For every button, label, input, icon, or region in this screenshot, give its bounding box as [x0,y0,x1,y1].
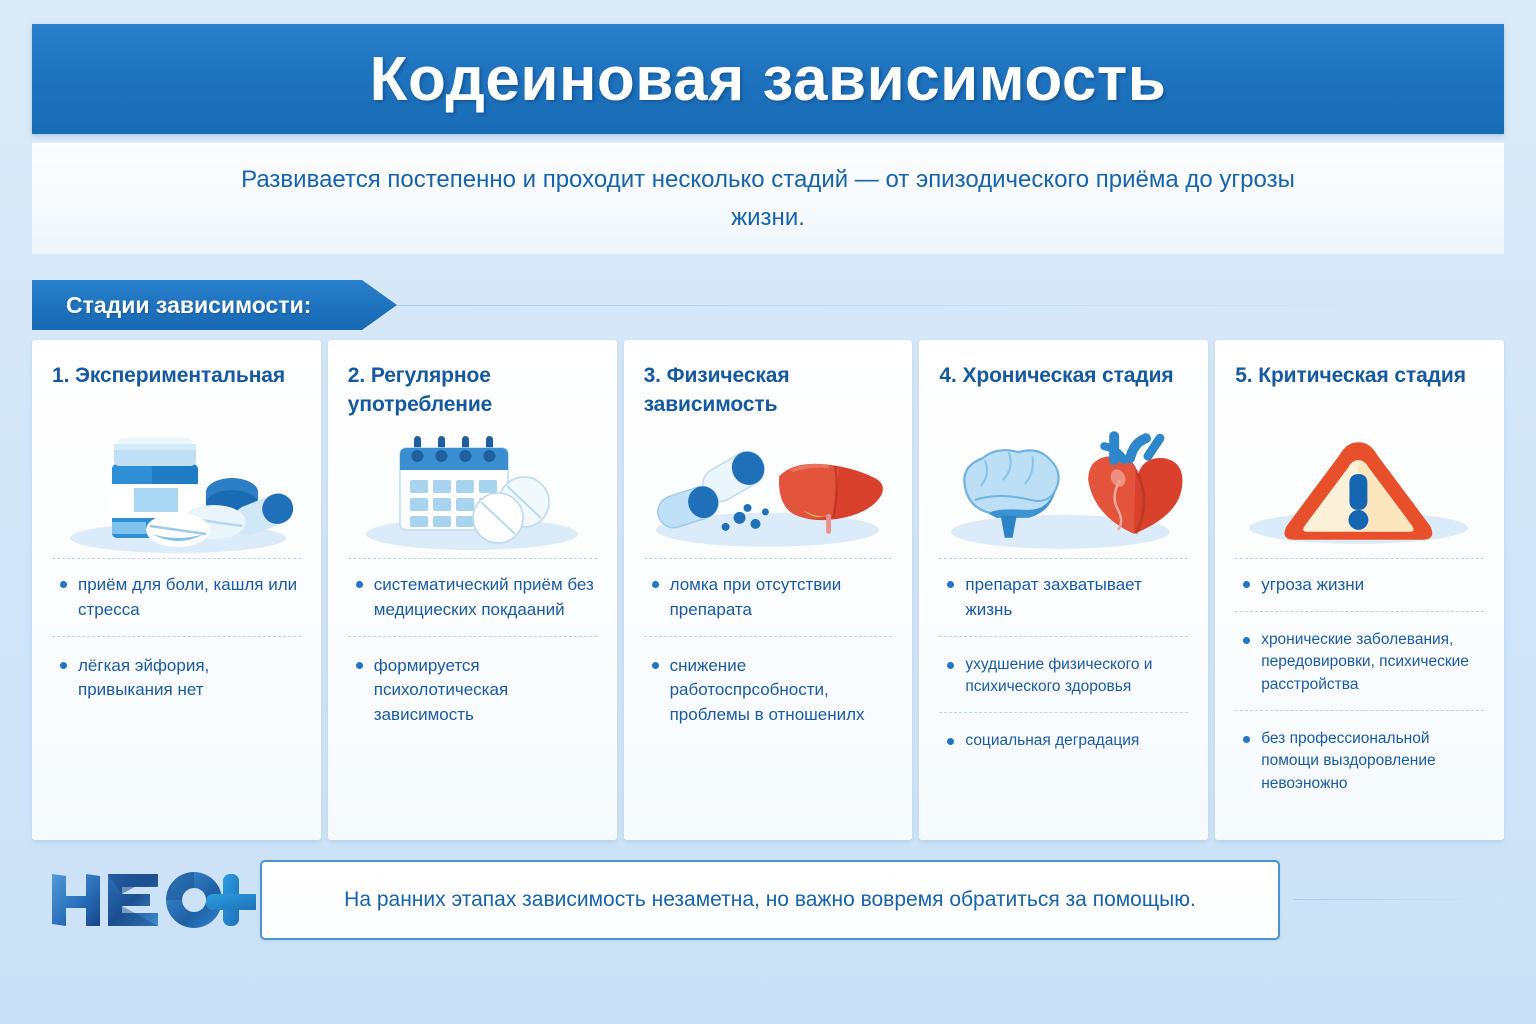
stage-card-4-bullets: препарат захватывает жизнь ухудшение физ… [939,573,1188,753]
banner-rule [392,305,1504,306]
brand-logo: НЕО+ [46,864,256,936]
pill-bottle-icon [52,428,301,556]
banner-chevron: Стадии зависимости: [32,280,397,330]
list-item: лёгкая эйфория, привыкания нет [52,636,301,704]
list-item: социальная деградация [939,712,1188,753]
stages-card-row: 1. Экспериментальная [32,340,1504,840]
stage-card-5-bullets: угроза жизни хронические заболевания, пе… [1235,573,1484,796]
footer-note-text: На ранних этапах зависимость незаметна, … [320,888,1220,912]
list-item: снижение работоспрсобности, проблемы в о… [644,636,893,728]
stage-card-1: 1. Экспериментальная [32,340,321,840]
stage-card-3-bullets: ломка при отсутствии препарата снижение … [644,573,893,728]
brain-heart-icon [939,428,1188,556]
card-5-divider [1235,558,1484,559]
footer-note-box: На ранних этапах зависимость незаметна, … [260,860,1280,940]
stage-card-4: 4. Хроническая стадия [919,340,1208,840]
stage-card-2: 2. Регулярное употребление [328,340,617,840]
stage-card-1-bullets: приём для боли, кашля или стресса лёгкая… [52,573,301,703]
list-item: хронические заболевания, передовировки, … [1235,611,1484,697]
section-banner: Стадии зависимости: [32,280,1504,330]
list-item: угроза жизни [1235,573,1484,598]
warning-triangle-icon [1235,428,1484,556]
stage-card-2-bullets: систематический приём без медициеских по… [348,573,597,728]
header-bar: Кодеиновая зависимость [32,24,1504,134]
card-4-divider [939,558,1188,559]
footer: НЕО+ На ранних этапах зависимость незаме… [32,852,1504,952]
card-3-divider [644,558,893,559]
list-item: препарат захватывает жизнь [939,573,1188,623]
stage-card-3: 3. Физическая зависимость [624,340,913,840]
stage-card-2-title: 2. Регулярное употребление [348,362,597,422]
subtitle-panel: Развивается постепенно и проходит нескол… [32,142,1504,254]
list-item: ломка при отсутствии препарата [644,573,893,623]
list-item: систематический приём без медициеских по… [348,573,597,623]
capsule-liver-icon [644,428,893,556]
list-item: формируется психолотическая зависимость [348,636,597,728]
list-item: приём для боли, кашля или стресса [52,573,301,623]
card-2-divider [348,558,597,559]
stage-card-4-title: 4. Хроническая стадия [939,362,1188,422]
list-item: ухудшение физического и психического здо… [939,636,1188,699]
stage-card-1-title: 1. Экспериментальная [52,362,301,422]
stage-card-5: 5. Критическая стадия угроза жизни хрони… [1215,340,1504,840]
stage-card-5-title: 5. Критическая стадия [1235,362,1484,422]
infographic-page: Кодеиновая зависимость Развивается посте… [0,0,1536,1024]
calendar-pills-icon [348,428,597,556]
footer-rule [1294,899,1504,900]
list-item: без профессиональной помощи выздоровлени… [1235,710,1484,796]
banner-label: Стадии зависимости: [32,292,311,319]
card-1-divider [52,558,301,559]
subtitle-text: Развивается постепенно и проходит нескол… [228,161,1308,235]
stage-card-3-title: 3. Физическая зависимость [644,362,893,422]
page-title: Кодеиновая зависимость [370,44,1167,115]
